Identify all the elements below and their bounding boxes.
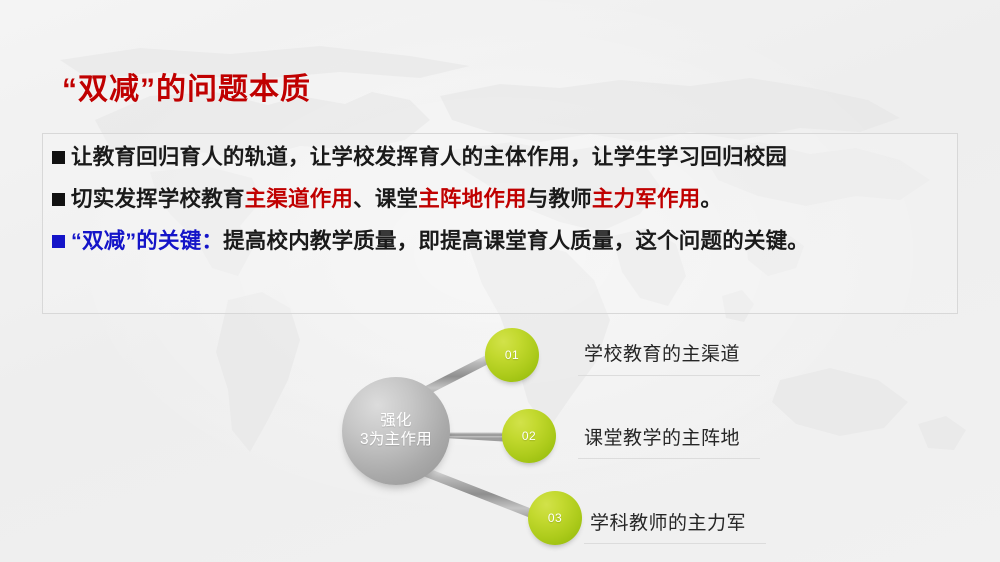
node-02-underline — [578, 458, 760, 459]
node-circle-03[interactable]: 03 — [528, 491, 582, 545]
node-03-number: 03 — [548, 511, 562, 525]
slide-canvas: “双减”的问题本质 让教育回归育人的轨道，让学校发挥育人的主体作用，让学生学习回… — [0, 0, 1000, 562]
node-03-underline — [584, 543, 766, 544]
hub-label: 强化 3为主作用 — [360, 412, 432, 450]
hub-and-spoke-diagram: 强化 3为主作用 01 02 03 学校教育的主渠道 课堂教学的主阵地 学科教师… — [0, 0, 1000, 562]
node-02-number: 02 — [522, 429, 536, 443]
node-01-label: 学校教育的主渠道 — [584, 339, 740, 366]
connector-hub-to-node-3 — [410, 466, 548, 520]
node-03-label: 学科教师的主力军 — [590, 508, 746, 535]
hub-sphere: 强化 3为主作用 — [342, 377, 450, 485]
node-circle-02[interactable]: 02 — [502, 409, 556, 463]
node-01-underline — [578, 375, 760, 376]
node-circle-01[interactable]: 01 — [485, 328, 539, 382]
node-01-number: 01 — [505, 348, 519, 362]
node-02-label: 课堂教学的主阵地 — [584, 423, 740, 450]
